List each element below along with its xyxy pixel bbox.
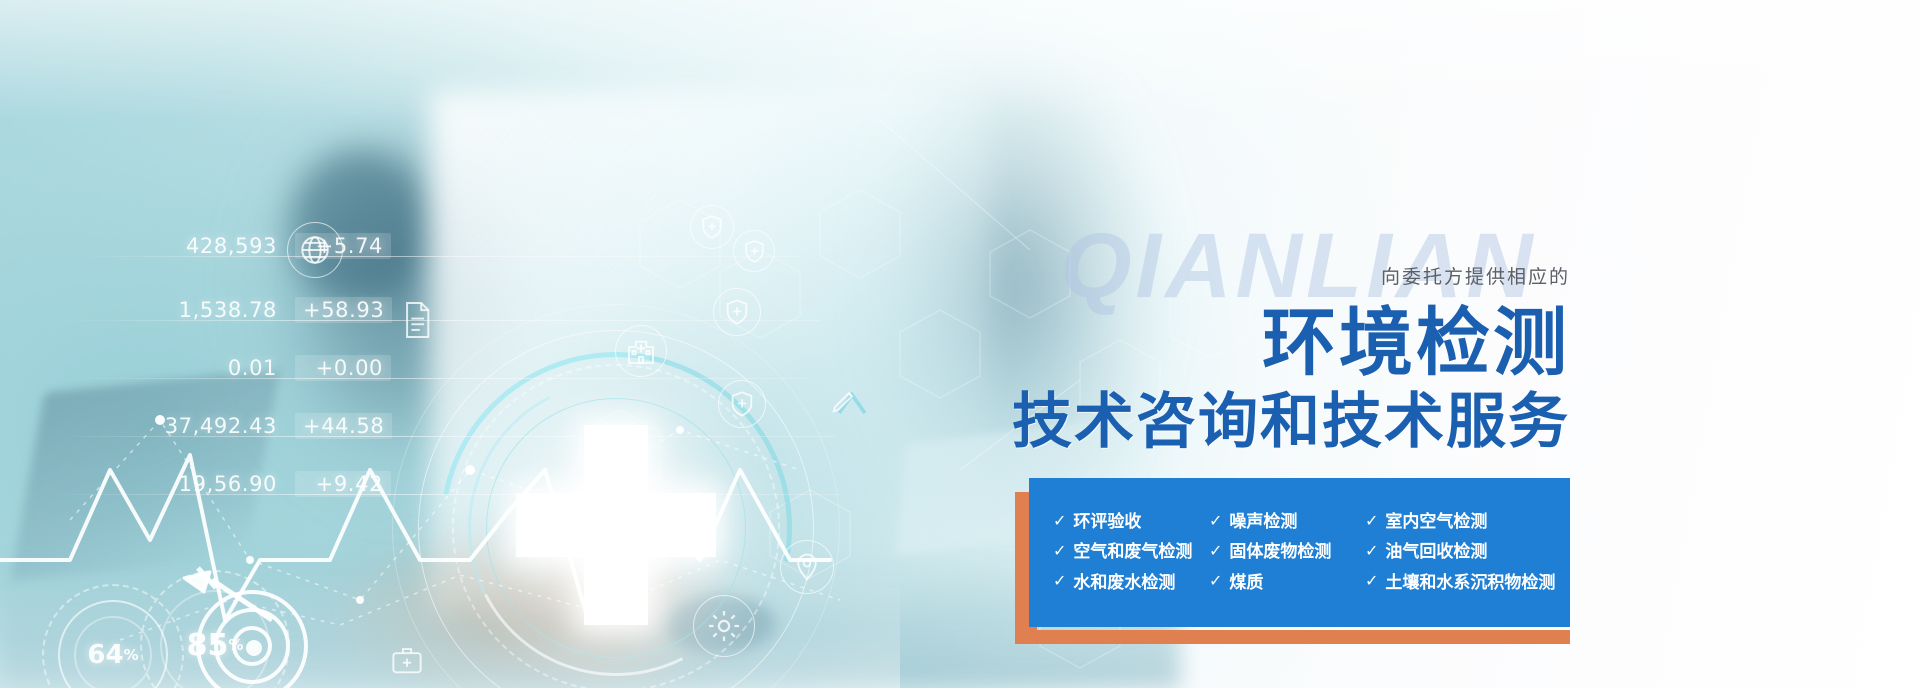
location-pin-icon [780,540,834,594]
service-label: 噪声检测 [1229,511,1297,533]
check-icon: ✓ [1365,542,1378,563]
service-label: 煤质 [1229,572,1263,594]
shield-cross-icon [713,288,761,336]
check-icon: ✓ [1365,512,1378,533]
service-item[interactable]: ✓ 油气回收检测 [1365,541,1556,563]
service-item[interactable]: ✓ 土壤和水系沉积物检测 [1365,572,1556,594]
service-item[interactable]: ✓ 室内空气检测 [1365,511,1556,533]
hospital-building-icon [615,325,667,377]
service-item[interactable]: ✓ 煤质 [1209,572,1359,594]
page-title: 环境检测 [1262,306,1570,380]
check-icon: ✓ [1053,572,1066,593]
data-row: 1,538.78+58.93 [145,297,392,323]
hero-banner: 428,593+5.74 1,538.78+58.93 0.01+0.00 37… [0,0,1920,688]
data-row: 0.01+0.00 [145,355,391,381]
shield-cross-icon [733,230,775,272]
data-row: 19,56.90+9.42 [145,471,391,497]
check-icon: ✓ [1209,572,1222,593]
check-icon: ✓ [1209,542,1222,563]
document-icon [400,300,434,340]
service-item[interactable]: ✓ 水和废水检测 [1053,572,1203,594]
service-label: 固体废物检测 [1229,541,1331,563]
globe-icon [287,222,343,278]
dart-icon [176,558,296,648]
services-box: ✓ 环评验收 ✓ 噪声检测 ✓ 室内空气检测 ✓ 空气和废气检测 ✓ 固体 [1029,478,1570,627]
data-delta: +58.93 [295,297,392,323]
data-value: 428,593 [145,234,277,258]
service-label: 土壤和水系沉积物检测 [1385,572,1555,594]
data-value: 19,56.90 [145,472,277,496]
service-label: 室内空气检测 [1385,511,1487,533]
service-item[interactable]: ✓ 环评验收 [1053,511,1203,533]
service-label: 水和废水检测 [1073,572,1175,594]
check-icon: ✓ [1365,572,1378,593]
medical-cross-icon [516,425,716,625]
service-item[interactable]: ✓ 空气和废气检测 [1053,541,1203,563]
service-item[interactable]: ✓ 固体废物检测 [1209,541,1359,563]
data-row: 428,593+5.74 [145,233,391,259]
data-delta: +0.00 [295,355,391,381]
services-panel: ✓ 环评验收 ✓ 噪声检测 ✓ 室内空气检测 ✓ 空气和废气检测 ✓ 固体 [1015,478,1570,630]
data-value: 0.01 [145,356,277,380]
accent-bar-bottom [1015,630,1570,644]
pen-icon [830,385,860,415]
service-label: 环评验收 [1073,511,1141,533]
data-row: 37,492.43+44.58 [145,413,392,439]
shield-cross-icon [718,380,766,428]
service-label: 油气回收检测 [1385,541,1487,563]
service-item[interactable]: ✓ 噪声检测 [1209,511,1359,533]
data-delta: +44.58 [295,413,392,439]
service-label: 空气和废气检测 [1073,541,1192,563]
check-icon: ✓ [1209,512,1222,533]
data-delta: +9.42 [295,471,391,497]
check-icon: ✓ [1053,512,1066,533]
gear-icon [693,595,755,657]
page-subtitle: 技术咨询和技术服务 [1012,392,1570,452]
check-icon: ✓ [1053,542,1066,563]
data-value: 37,492.43 [145,414,277,438]
shield-cross-icon [690,205,734,249]
services-grid: ✓ 环评验收 ✓ 噪声检测 ✓ 室内空气检测 ✓ 空气和废气检测 ✓ 固体 [1029,511,1570,593]
eyebrow-text: 向委托方提供相应的 [1381,262,1570,289]
data-value: 1,538.78 [145,298,277,322]
briefcase-icon [390,645,424,675]
